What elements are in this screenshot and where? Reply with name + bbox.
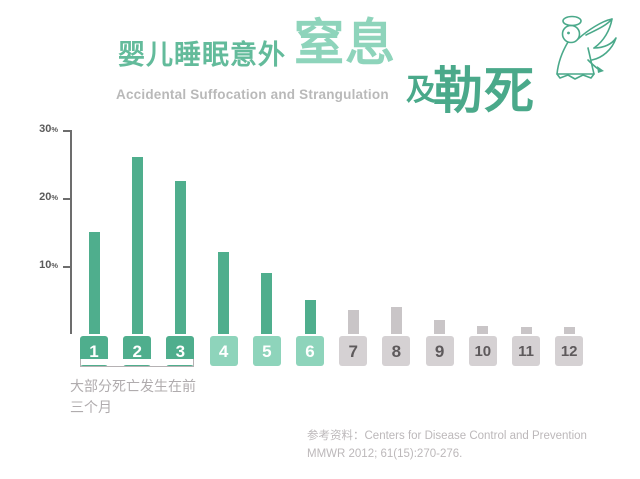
category-label-box: 6	[296, 336, 324, 366]
bar	[218, 252, 229, 334]
bar	[132, 157, 143, 334]
y-axis-tick	[63, 266, 71, 268]
annotation-note: 大部分死亡发生在前 三个月	[70, 376, 290, 418]
y-axis-tick	[63, 198, 71, 200]
category-label-box: 8	[382, 336, 410, 366]
header: 婴儿睡眠意外 窒息 及 勒死 Accidental Suffocation an…	[0, 0, 640, 118]
category-label-box: 7	[339, 336, 367, 366]
y-axis-line	[70, 130, 72, 334]
source-citation: 参考资料：Centers for Disease Control and Pre…	[307, 428, 637, 464]
bar	[89, 232, 100, 334]
y-axis-tick-label: 30%	[39, 124, 58, 135]
title-chinese-conjunction: 及	[406, 76, 436, 106]
source-line-2: MMWR 2012; 61(15):270-276.	[307, 446, 637, 464]
bar	[434, 320, 445, 334]
angel-icon	[548, 8, 632, 84]
y-axis-tick	[63, 130, 71, 132]
bar-chart: 10%20%30% 123456789101112 大部分死亡发生在前 三个月	[0, 118, 640, 418]
source-line-1: 参考资料：Centers for Disease Control and Pre…	[307, 428, 637, 446]
title-chinese-small: 婴儿睡眠意外	[118, 42, 286, 69]
bar	[175, 181, 186, 334]
bar	[391, 307, 402, 334]
category-label-box: 9	[426, 336, 454, 366]
bar	[305, 300, 316, 334]
bar	[261, 273, 272, 334]
title-chinese-large-secondary: 勒死	[433, 66, 535, 116]
category-label-box: 12	[555, 336, 583, 366]
y-axis-tick-label: 20%	[39, 192, 58, 203]
title-english-subtitle: Accidental Suffocation and Strangulation	[116, 88, 389, 102]
y-axis-tick-label: 10%	[39, 260, 58, 271]
bar	[477, 326, 488, 334]
annotation-bracket	[80, 359, 194, 367]
bar	[521, 327, 532, 334]
annotation-note-line2: 三个月	[70, 397, 290, 418]
category-label-box: 10	[469, 336, 497, 366]
category-label-box: 4	[210, 336, 238, 366]
infographic-poster: 婴儿睡眠意外 窒息 及 勒死 Accidental Suffocation an…	[0, 0, 640, 479]
page-title: 婴儿睡眠意外 窒息 及 勒死 Accidental Suffocation an…	[108, 14, 568, 114]
title-chinese-large-primary: 窒息	[294, 18, 396, 68]
annotation-note-line1: 大部分死亡发生在前	[70, 376, 290, 397]
bar	[564, 327, 575, 334]
category-label-box: 5	[253, 336, 281, 366]
category-label-box: 11	[512, 336, 540, 366]
bar	[348, 310, 359, 334]
